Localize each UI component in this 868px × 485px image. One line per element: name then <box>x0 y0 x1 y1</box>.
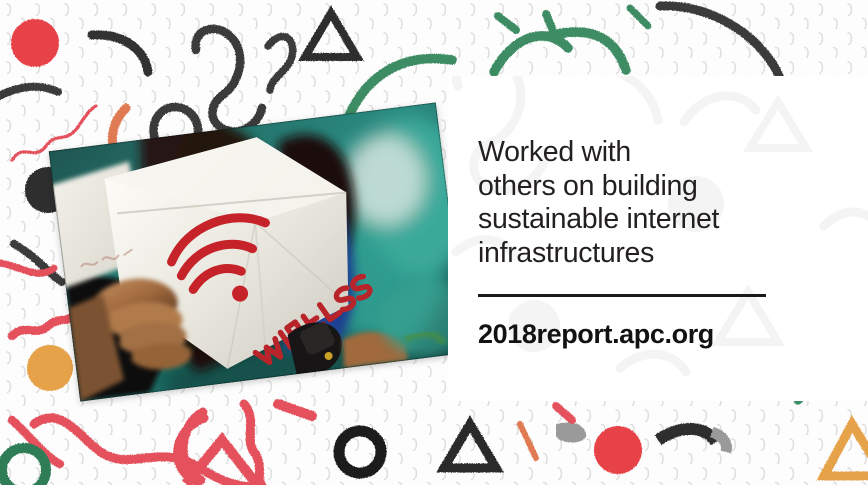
stroke-red-bottom-left-edge <box>556 406 572 420</box>
divider-rule <box>478 294 766 297</box>
arc-green-top-center-2 <box>494 36 568 72</box>
text-card: Worked with others on building sustainab… <box>448 76 868 401</box>
headline-line-4: infrastructures <box>478 237 778 271</box>
triangle-black-top-center <box>305 13 357 57</box>
wave-red-left-b <box>12 314 76 336</box>
headline-line-1: Worked with <box>478 136 778 170</box>
circle-red-top-left <box>11 19 59 67</box>
squiggle-black-top-c <box>268 37 293 90</box>
circle-red-bottom <box>594 426 642 474</box>
headline-line-3: sustainable internet <box>478 203 778 237</box>
report-url[interactable]: 2018report.apc.org <box>478 319 868 350</box>
arc-green-top-right <box>548 32 626 70</box>
dash-green-top <box>498 16 516 30</box>
triangle-black-bottom <box>444 424 496 468</box>
triangle-orange-bottom-right <box>824 424 868 476</box>
dash-green-top-2 <box>546 14 552 28</box>
stroke-red-bottom-center <box>278 404 312 416</box>
headline-line-2: others on building <box>478 170 778 204</box>
squiggle-black-top-b <box>196 29 262 132</box>
ring-green-bottom-left <box>2 448 46 485</box>
photo-wireless-paper <box>49 103 468 402</box>
poster-canvas: Worked with others on building sustainab… <box>0 0 868 485</box>
arc-black-top-left <box>92 35 148 72</box>
ring-black-bottom <box>339 431 381 473</box>
stroke-orange-bottom <box>520 424 536 458</box>
circle-orange-left <box>27 345 73 391</box>
arc-black-bottom-right <box>658 429 716 442</box>
arc-black-left-mid <box>0 87 58 100</box>
blob-gray-bottom <box>556 422 586 442</box>
dash-green-top-right <box>630 8 648 26</box>
headline: Worked with others on building sustainab… <box>478 136 778 270</box>
